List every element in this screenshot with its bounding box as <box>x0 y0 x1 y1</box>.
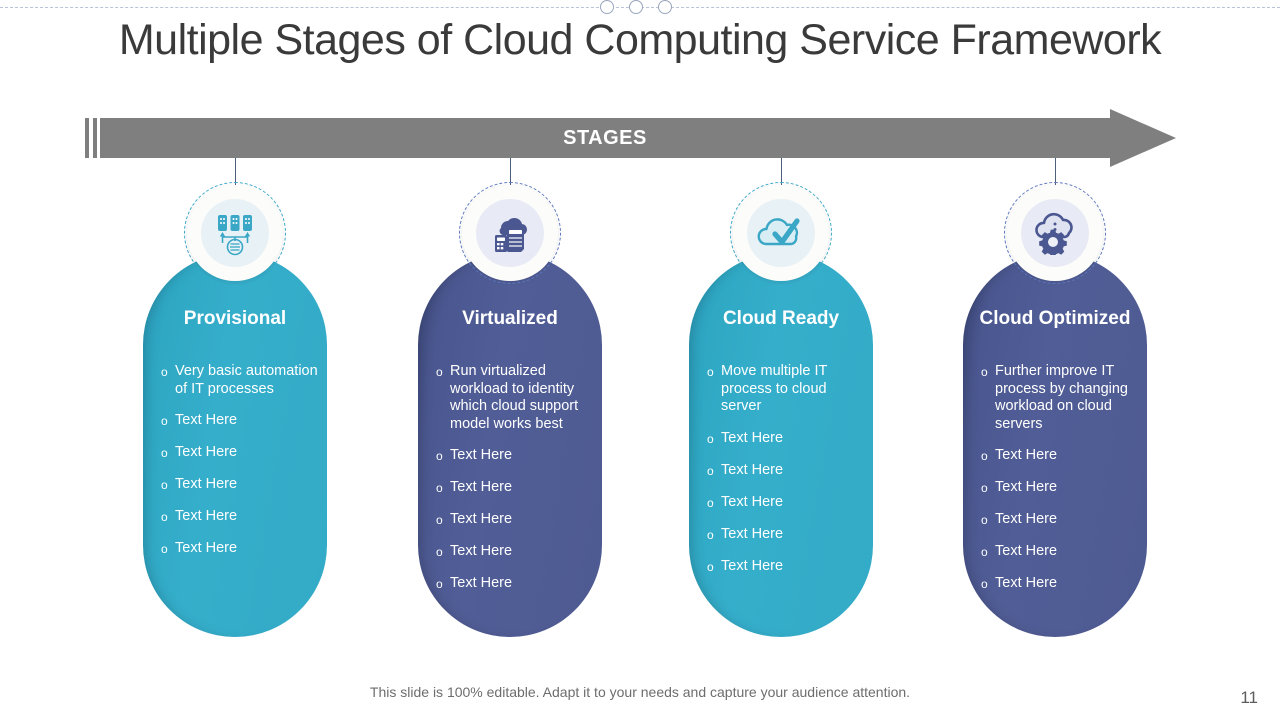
list-item: o Text Here <box>981 447 1143 465</box>
bullet-marker: o <box>981 543 995 561</box>
bullet-text: Text Here <box>721 494 783 512</box>
list-item: o Text Here <box>161 444 323 462</box>
list-item: o Very basic automation of IT processes <box>161 363 323 398</box>
bullet-marker: o <box>707 494 721 512</box>
bullet-text: Text Here <box>175 540 237 558</box>
bullet-marker: o <box>707 558 721 576</box>
list-item: o Text Here <box>436 575 598 593</box>
stages-arrow-bar: STAGES <box>84 118 1188 162</box>
bullet-marker: o <box>436 363 450 381</box>
list-item: o Text Here <box>161 476 323 494</box>
circle-outline-icon <box>658 0 672 14</box>
bullet-marker: o <box>436 511 450 529</box>
bullet-text: Text Here <box>450 511 512 529</box>
bullet-marker: o <box>161 476 175 494</box>
bullet-text: Text Here <box>995 511 1057 529</box>
stage-icon-circle <box>462 185 558 281</box>
bullet-text: Move multiple IT process to cloud server <box>721 363 869 416</box>
bullet-text: Text Here <box>175 476 237 494</box>
bullet-text: Text Here <box>450 575 512 593</box>
list-item: o Text Here <box>981 575 1143 593</box>
stage-bullet-list: o Very basic automation of IT processes … <box>161 363 323 572</box>
list-item: o Text Here <box>436 511 598 529</box>
list-item: o Text Here <box>981 543 1143 561</box>
bullet-text: Text Here <box>175 412 237 430</box>
bullet-marker: o <box>161 363 175 381</box>
list-item: o Text Here <box>707 430 869 448</box>
bullet-marker: o <box>981 447 995 465</box>
cloud-gear-icon <box>1031 211 1079 255</box>
bullet-marker: o <box>981 363 995 381</box>
list-item: o Text Here <box>436 479 598 497</box>
bullet-marker: o <box>981 511 995 529</box>
bar-tick-mark <box>85 118 89 158</box>
bullet-marker: o <box>981 575 995 593</box>
stage-bullet-list: o Run virtualized workload to identity w… <box>436 363 598 607</box>
cloud-check-icon <box>756 212 806 254</box>
list-item: o Text Here <box>161 412 323 430</box>
bullet-marker: o <box>707 363 721 381</box>
page-title: Multiple Stages of Cloud Computing Servi… <box>0 16 1280 65</box>
bullet-text: Text Here <box>450 479 512 497</box>
bullet-text: Further improve IT process by changing w… <box>995 363 1143 433</box>
bullet-text: Very basic automation of IT processes <box>175 363 323 398</box>
stage-icon-circle <box>1007 185 1103 281</box>
stage-heading: Virtualized <box>414 308 606 330</box>
icon-inner-disc <box>1021 199 1089 267</box>
bullet-marker: o <box>981 479 995 497</box>
list-item: o Text Here <box>707 494 869 512</box>
bar-tick-mark <box>93 118 97 158</box>
top-decoration <box>0 0 1280 16</box>
list-item: o Text Here <box>981 479 1143 497</box>
stage-icon-circle <box>187 185 283 281</box>
server-provisioning-icon <box>212 210 258 256</box>
list-item: o Run virtualized workload to identity w… <box>436 363 598 433</box>
circle-outline-icon <box>600 0 614 14</box>
bullet-marker: o <box>436 543 450 561</box>
list-item: o Text Here <box>707 462 869 480</box>
bullet-marker: o <box>436 575 450 593</box>
bullet-text: Text Here <box>721 558 783 576</box>
arrow-head-icon <box>1110 109 1176 167</box>
bullet-text: Text Here <box>450 543 512 561</box>
bullet-marker: o <box>161 540 175 558</box>
list-item: o Text Here <box>707 526 869 544</box>
bullet-text: Text Here <box>995 479 1057 497</box>
bullet-text: Text Here <box>995 575 1057 593</box>
list-item: o Text Here <box>707 558 869 576</box>
bullet-marker: o <box>707 430 721 448</box>
list-item: o Text Here <box>981 511 1143 529</box>
bullet-marker: o <box>707 462 721 480</box>
bullet-text: Text Here <box>450 447 512 465</box>
bullet-marker: o <box>436 447 450 465</box>
list-item: o Text Here <box>161 540 323 558</box>
bullet-text: Text Here <box>175 444 237 462</box>
bullet-text: Text Here <box>721 526 783 544</box>
bullet-marker: o <box>707 526 721 544</box>
circle-outline-icon <box>629 0 643 14</box>
stage-bullet-list: o Move multiple IT process to cloud serv… <box>707 363 869 590</box>
list-item: o Text Here <box>436 447 598 465</box>
bullet-text: Text Here <box>721 462 783 480</box>
bullet-text: Text Here <box>995 447 1057 465</box>
bullet-marker: o <box>161 444 175 462</box>
bullet-text: Run virtualized workload to identity whi… <box>450 363 598 433</box>
stage-heading: Provisional <box>139 308 331 330</box>
footer-note: This slide is 100% editable. Adapt it to… <box>0 684 1280 700</box>
icon-inner-disc <box>201 199 269 267</box>
bullet-text: Text Here <box>995 543 1057 561</box>
bullet-text: Text Here <box>175 508 237 526</box>
stages-bar-label: STAGES <box>100 118 1110 158</box>
list-item: o Text Here <box>161 508 323 526</box>
list-item: o Further improve IT process by changing… <box>981 363 1143 433</box>
stage-bullet-list: o Further improve IT process by changing… <box>981 363 1143 607</box>
stage-heading: Cloud Optimized <box>959 308 1151 330</box>
bullet-marker: o <box>161 508 175 526</box>
list-item: o Text Here <box>436 543 598 561</box>
list-item: o Move multiple IT process to cloud serv… <box>707 363 869 416</box>
page-number: 11 <box>1240 688 1258 708</box>
icon-inner-disc <box>476 199 544 267</box>
bullet-marker: o <box>436 479 450 497</box>
bullet-marker: o <box>161 412 175 430</box>
stage-heading: Cloud Ready <box>685 308 877 330</box>
cloud-datacenter-icon <box>488 211 532 255</box>
icon-inner-disc <box>747 199 815 267</box>
stage-icon-circle <box>733 185 829 281</box>
bullet-text: Text Here <box>721 430 783 448</box>
